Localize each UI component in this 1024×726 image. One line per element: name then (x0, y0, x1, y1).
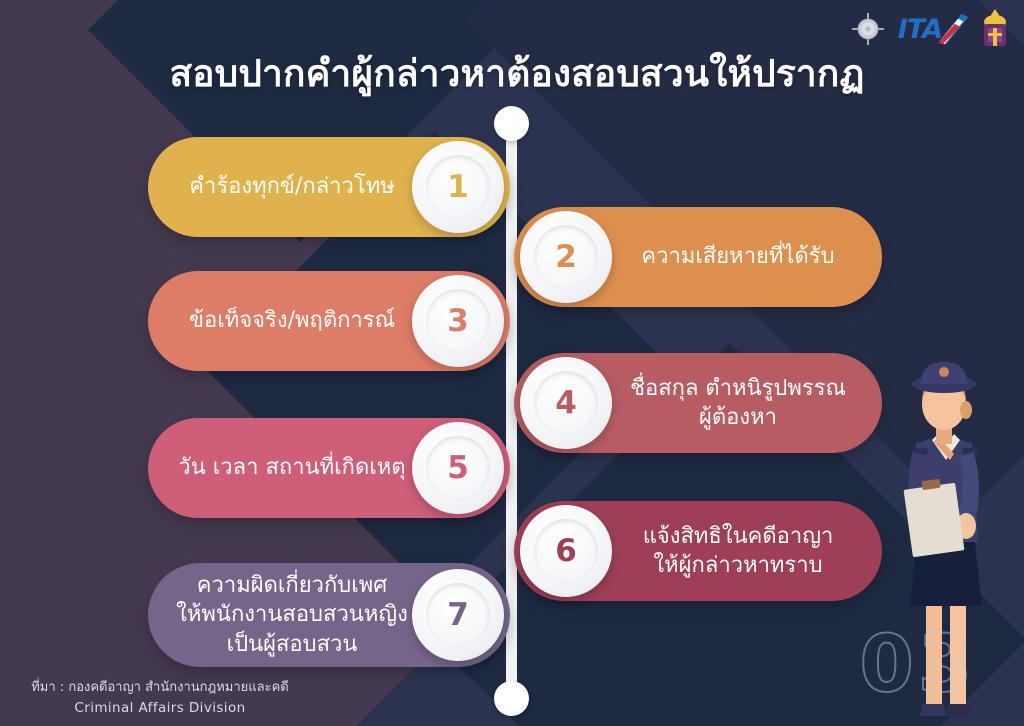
footer-source-en: Criminal Affairs Division (10, 698, 310, 718)
timeline-item-number: 7 (447, 600, 469, 631)
timeline-item-number: 5 (447, 453, 469, 484)
timeline-item-6[interactable]: แจ้งสิทธิในคดีอาญา ให้ผู้กล่าวหาทราบ6 (514, 501, 882, 601)
timeline-item-badge-inner: 5 (426, 436, 490, 500)
timeline-item-7[interactable]: ความผิดเกี่ยวกับเพศ ให้พนักงานสอบสวนหญิง… (148, 563, 510, 667)
timeline-item-badge-inner: 2 (534, 225, 598, 289)
timeline-item-badge: 4 (520, 357, 612, 449)
timeline-item-badge-inner: 3 (426, 289, 490, 353)
timeline-item-badge: 7 (412, 569, 504, 661)
timeline-item-5[interactable]: วัน เวลา สถานที่เกิดเหตุ5 (148, 418, 510, 518)
timeline-item-badge-inner: 4 (534, 371, 598, 435)
timeline-dot-top (494, 106, 529, 141)
timeline-item-number: 6 (555, 536, 577, 567)
police-chakra-emblem-icon (848, 9, 888, 49)
timeline-item-3[interactable]: ข้อเท็จจริง/พฤติการณ์3 (148, 271, 510, 371)
timeline-item-badge-inner: 7 (426, 583, 490, 647)
footer-source: ที่มา : กองคดีอาญา สำนักงานกฎหมายและคดี … (10, 678, 310, 718)
footer-source-th: ที่มา : กองคดีอาญา สำนักงานกฎหมายและคดี (10, 678, 310, 698)
ita-logo-icon: ITA (898, 9, 970, 49)
timeline-item-badge: 6 (520, 505, 612, 597)
timeline-item-number: 1 (447, 172, 469, 203)
timeline-item-badge: 3 (412, 275, 504, 367)
timeline-item-badge: 5 (412, 422, 504, 514)
page-number: 03 (859, 620, 976, 710)
timeline-item-badge: 2 (520, 211, 612, 303)
timeline-item-4[interactable]: ชื่อสกุล ตำหนิรูปพรรณ ผู้ต้องหา4 (514, 353, 882, 453)
timeline-item-badge: 1 (412, 141, 504, 233)
timeline-dot-bottom (494, 681, 529, 716)
timeline-item-1[interactable]: คำร้องทุกข์/กล่าวโทษ1 (148, 137, 510, 237)
page-title: สอบปากคำผู้กล่าวหาต้องสอบสวนให้ปรากฏ (0, 44, 1024, 103)
infographic-canvas: ITA สอบปากคำผู้กล่าวหาต้องสอบสวนให้ปรากฏ… (0, 0, 1024, 726)
timeline-item-number: 3 (447, 306, 469, 337)
timeline-item-badge-inner: 1 (426, 155, 490, 219)
timeline-item-number: 2 (555, 242, 577, 273)
timeline-item-2[interactable]: ความเสียหายที่ได้รับ2 (514, 207, 882, 307)
timeline-item-badge-inner: 6 (534, 519, 598, 583)
timeline-item-number: 4 (555, 388, 577, 419)
